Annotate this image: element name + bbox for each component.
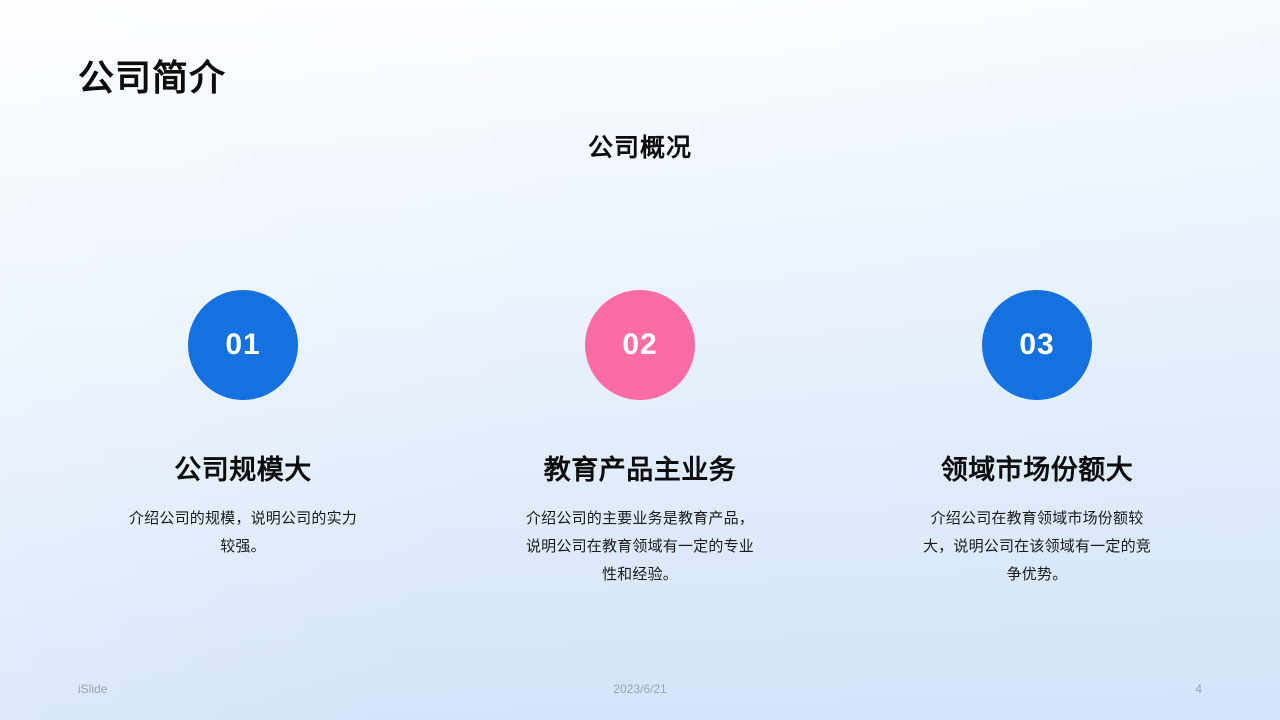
- feature-columns: 01 公司规模大 介绍公司的规模，说明公司的实力较强。 02 教育产品主业务 介…: [0, 290, 1280, 589]
- footer-page-number: 4: [1195, 682, 1202, 696]
- feature-heading-3: 领域市场份额大: [941, 448, 1134, 487]
- feature-body-1: 介绍公司的规模，说明公司的实力较强。: [123, 505, 363, 561]
- number-badge-01: 01: [188, 290, 298, 400]
- section-subtitle: 公司概况: [0, 128, 1280, 164]
- feature-body-3: 介绍公司在教育领域市场份额较大，说明公司在该领域有一定的竞争优势。: [917, 505, 1157, 589]
- footer-date: 2023/6/21: [0, 682, 1280, 696]
- feature-column-3: 03 领域市场份额大 介绍公司在教育领域市场份额较大，说明公司在该领域有一定的竞…: [839, 290, 1236, 589]
- feature-heading-1: 公司规模大: [174, 448, 312, 487]
- badge-number-label: 03: [1019, 330, 1054, 360]
- badge-number-label: 01: [225, 330, 260, 360]
- badge-number-label: 02: [622, 330, 657, 360]
- feature-column-2: 02 教育产品主业务 介绍公司的主要业务是教育产品，说明公司在教育领域有一定的专…: [442, 290, 839, 589]
- number-badge-03: 03: [982, 290, 1092, 400]
- slide-footer: iSlide 2023/6/21 4: [0, 682, 1280, 700]
- feature-column-1: 01 公司规模大 介绍公司的规模，说明公司的实力较强。: [45, 290, 442, 589]
- feature-body-2: 介绍公司的主要业务是教育产品，说明公司在教育领域有一定的专业性和经验。: [520, 505, 760, 589]
- feature-heading-2: 教育产品主业务: [544, 448, 737, 487]
- page-title: 公司简介: [78, 56, 226, 99]
- slide-canvas: 公司简介 公司概况 01 公司规模大 介绍公司的规模，说明公司的实力较强。 02…: [0, 0, 1280, 720]
- number-badge-02: 02: [585, 290, 695, 400]
